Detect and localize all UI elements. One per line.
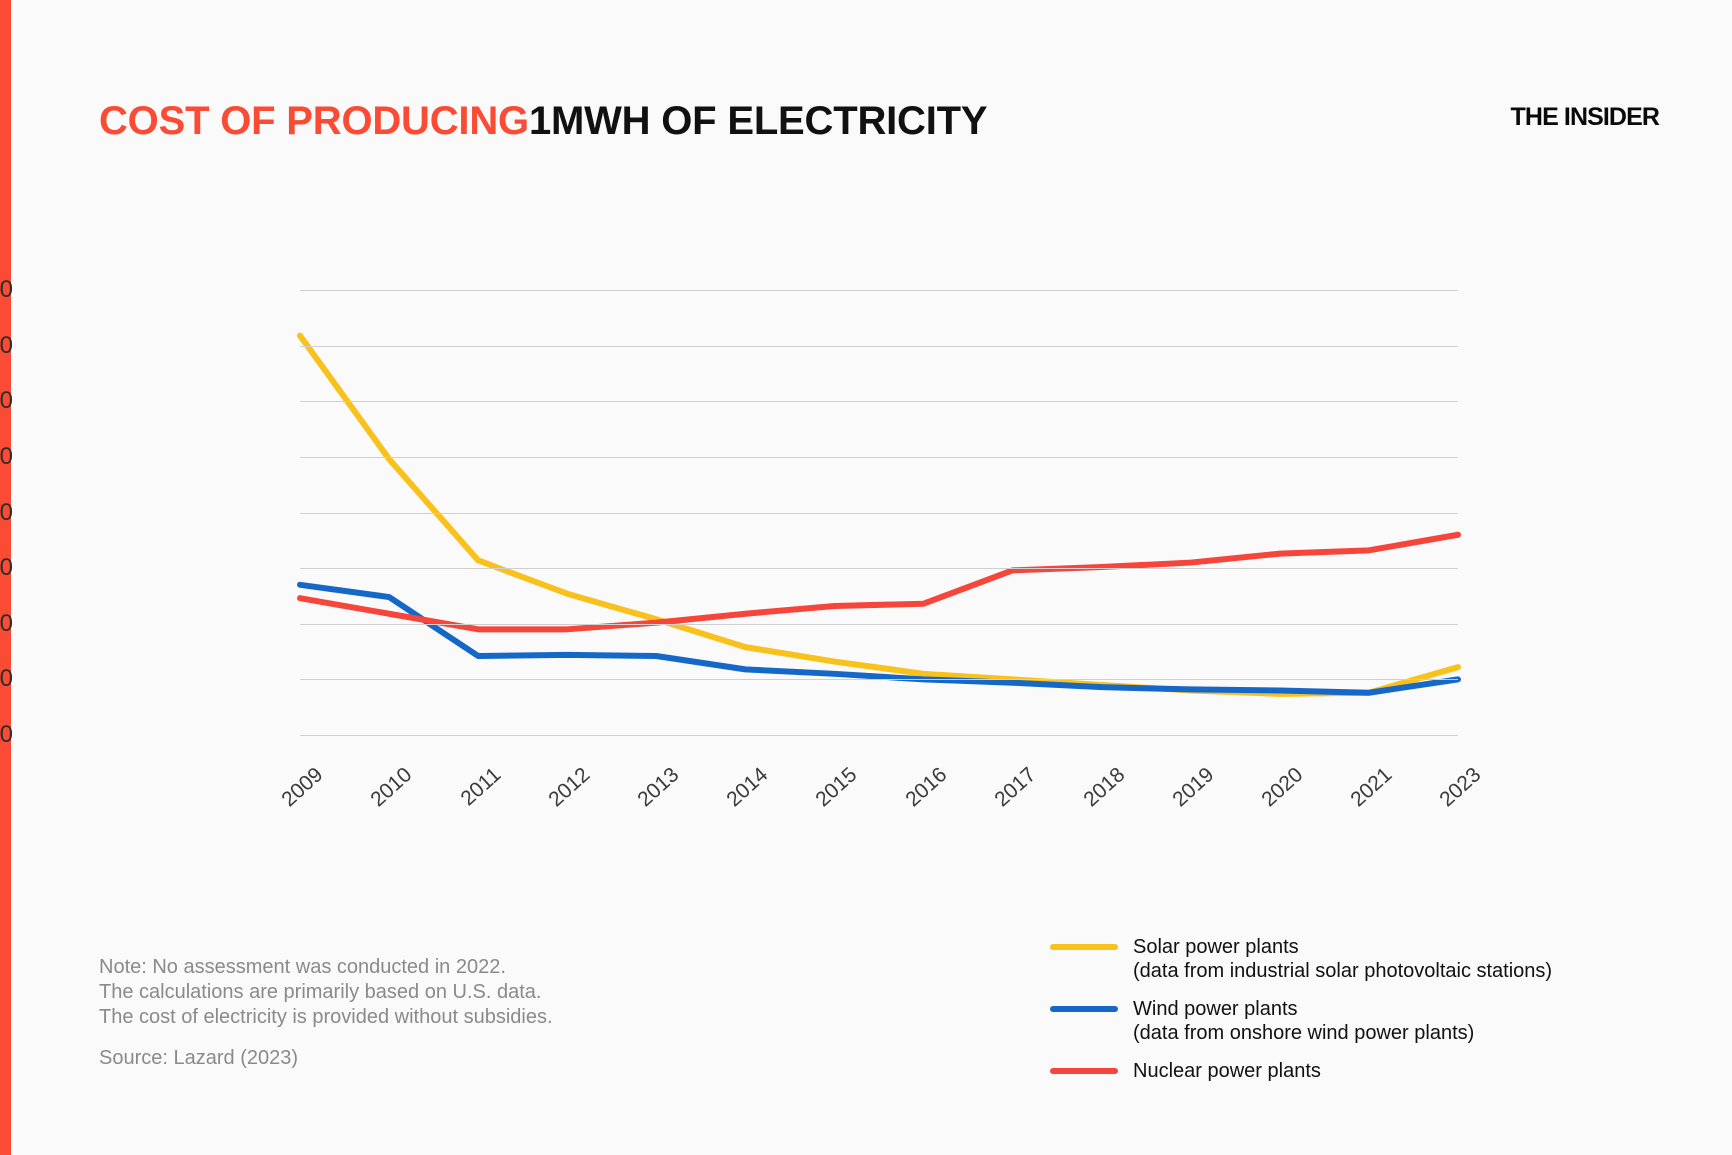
x-axis-tick-label: 2016 [884,763,952,828]
legend-label: Nuclear power plants [1133,1059,1321,1083]
y-axis-tick-label: 100 [0,610,13,638]
gridline [300,679,1458,680]
gridline [300,513,1458,514]
note-line-2: The calculations are primarily based on … [99,980,553,1005]
x-axis-tick-label: 2013 [616,763,684,828]
y-axis-tick-label: 300 [0,387,13,415]
x-axis-tick-label: 2012 [527,763,595,828]
legend-item[interactable]: Wind power plants(data from onshore wind… [1050,997,1650,1045]
x-axis-tick-label: 2010 [349,763,417,828]
x-axis-tick-label: 2020 [1240,763,1308,828]
note-line-1: Note: No assessment was conducted in 202… [99,955,553,980]
x-axis-tick-label: 2023 [1418,763,1486,828]
note-line-3: The cost of electricity is provided with… [99,1005,553,1030]
legend-label: Wind power plants [1133,997,1474,1021]
x-axis-tick-label: 2009 [260,763,328,828]
x-axis-tick-label: 2015 [794,763,862,828]
y-axis-tick-label: 400 [0,276,13,304]
y-axis-tick-label: 150 [0,554,13,582]
chart-note: Note: No assessment was conducted in 202… [99,955,553,1030]
x-axis-tick-label: 2011 [438,763,506,828]
legend-item[interactable]: Solar power plants(data from industrial … [1050,935,1650,983]
chart-source: Source: Lazard (2023) [99,1047,298,1070]
gridline [300,735,1458,736]
page-header: COST OF PRODUCING 1MWH OF ELECTRICITY [99,95,1659,147]
y-axis-tick-label: 250 [0,443,13,471]
y-axis-tick-label: 350 [0,332,13,360]
y-axis-tick-label: 200 [0,499,13,527]
series-line [300,336,1458,694]
x-axis-tick-label: 2014 [705,763,773,828]
brand-logo: THE INSIDER [1511,103,1659,132]
chart-legend: Solar power plants(data from industrial … [1050,935,1650,1097]
x-axis-tick-label: 2018 [1062,763,1130,828]
legend-item[interactable]: Nuclear power plants [1050,1059,1650,1083]
gridline [300,624,1458,625]
gridline [300,346,1458,347]
gridline [300,568,1458,569]
page-title: 1MWH OF ELECTRICITY [529,95,987,147]
chart-plot-area: 0501001502002503003504002009201020112012… [300,290,1458,735]
legend-color-swatch [1050,1006,1118,1012]
gridline [300,457,1458,458]
legend-color-swatch [1050,944,1118,950]
series-line [300,535,1458,630]
legend-sublabel: (data from industrial solar photovoltaic… [1133,959,1552,983]
line-chart: 0501001502002503003504002009201020112012… [0,230,1732,850]
y-axis-tick-label: 50 [0,665,13,693]
legend-label: Solar power plants [1133,935,1552,959]
x-axis-tick-label: 2021 [1329,763,1397,828]
legend-color-swatch [1050,1068,1118,1074]
legend-sublabel: (data from onshore wind power plants) [1133,1021,1474,1045]
series-line [300,585,1458,693]
page-title-highlight: COST OF PRODUCING [99,95,529,147]
gridline [300,401,1458,402]
x-axis-tick-label: 2017 [973,763,1041,828]
gridline [300,290,1458,291]
y-axis-tick-label: 0 [0,721,13,749]
x-axis-tick-label: 2019 [1151,763,1219,828]
